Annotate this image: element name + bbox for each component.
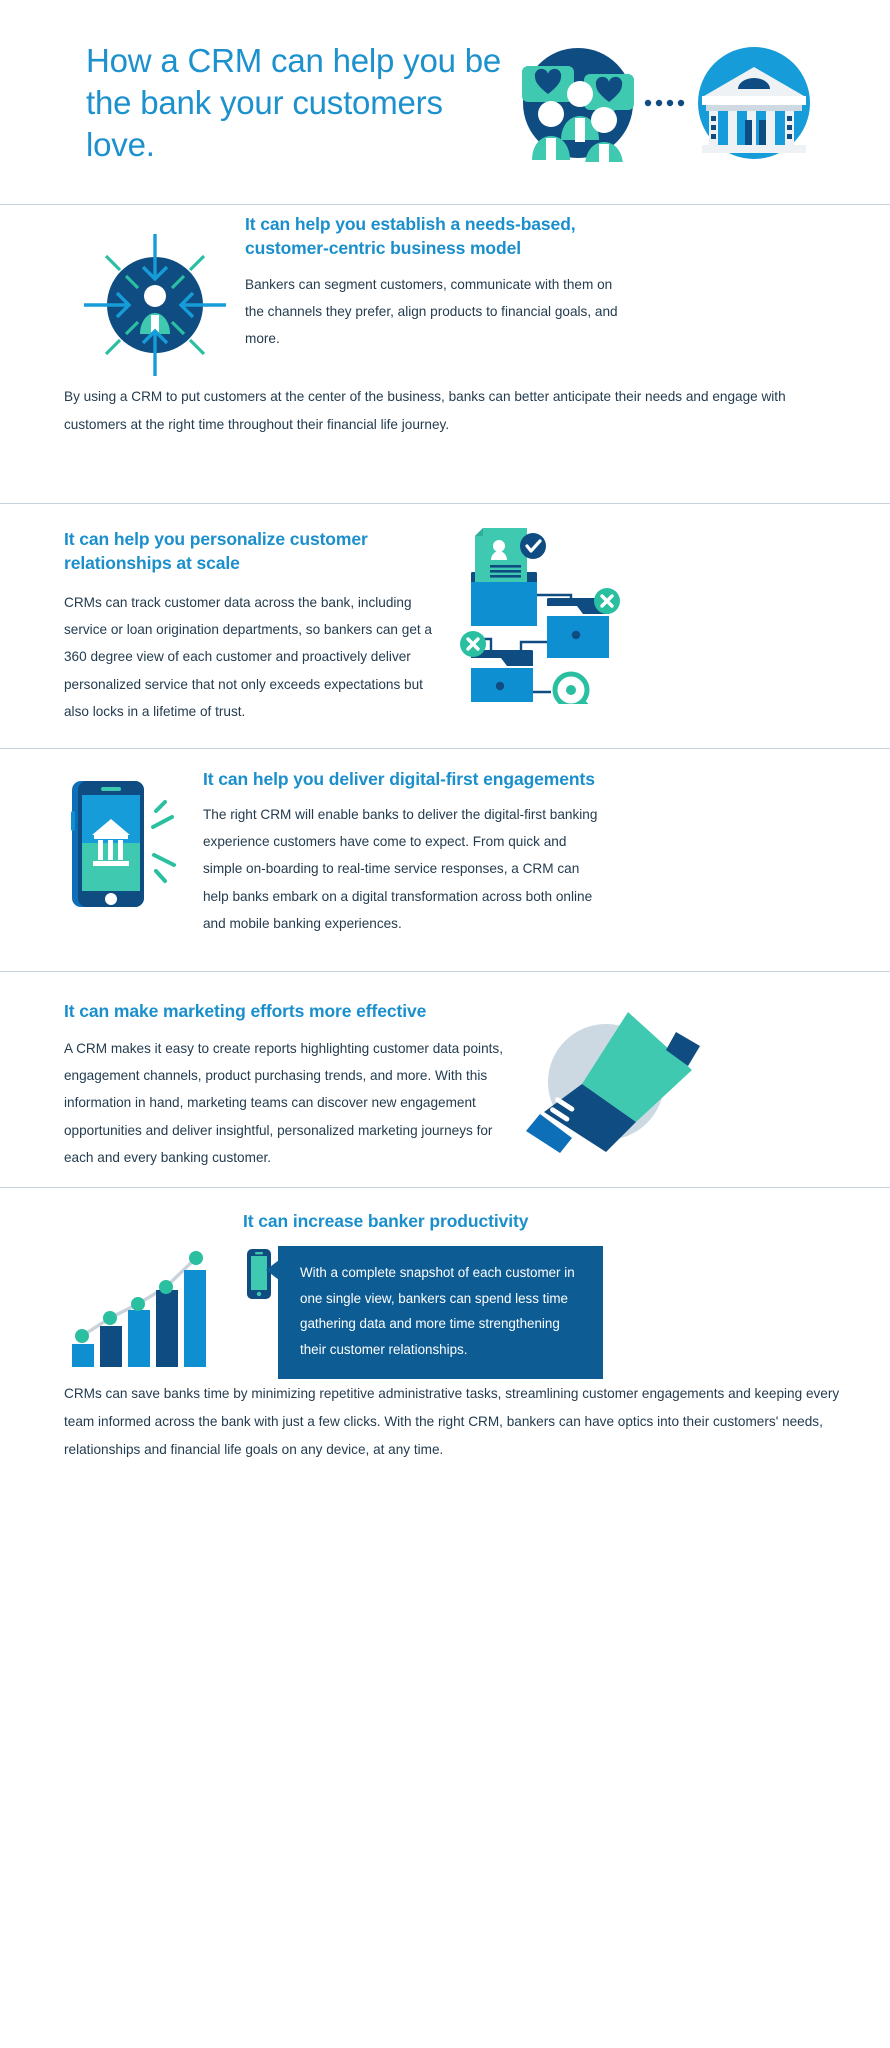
section-heading: It can increase banker productivity <box>243 1210 663 1234</box>
marker-1 <box>75 1329 89 1343</box>
infographic-page: How a CRM can help you be the bank your … <box>0 0 890 1503</box>
section-footnote: CRMs can save banks time by minimizing r… <box>64 1380 854 1464</box>
page-title: How a CRM can help you be the bank your … <box>86 40 506 167</box>
bar-3 <box>128 1310 150 1367</box>
hero-section: How a CRM can help you be the bank your … <box>0 0 890 204</box>
target-inward-arrows-icon <box>80 230 230 380</box>
bar-2 <box>100 1326 122 1367</box>
section-body: CRMs can track customer data across the … <box>64 589 444 725</box>
section-body: A CRM makes it easy to create reports hi… <box>64 1035 504 1171</box>
section-body: Bankers can segment customers, communica… <box>245 271 627 353</box>
section-personalize-relationships: It can help you personalize customer rel… <box>0 504 890 748</box>
section-banker-productivity: It can increase banker productivity With… <box>0 1188 890 1503</box>
section-heading: It can help you establish a needs-based,… <box>245 213 635 260</box>
bar-5 <box>184 1270 206 1367</box>
hero-illustration <box>516 44 836 162</box>
section-heading: It can help you personalize customer rel… <box>64 528 434 575</box>
bar-4 <box>156 1290 178 1367</box>
marker-5 <box>189 1251 203 1265</box>
section-body: The right CRM will enable banks to deliv… <box>203 801 603 937</box>
bar-1 <box>72 1344 94 1367</box>
section-footnote: By using a CRM to put customers at the c… <box>64 383 824 439</box>
mobile-phone-bank-icon <box>68 777 193 912</box>
marker-4 <box>159 1280 173 1294</box>
section-marketing-effective: It can make marketing efforts more effec… <box>0 972 890 1187</box>
bank-building-circle-icon <box>698 47 810 159</box>
customers-hearts-circle-icon <box>522 48 634 162</box>
marker-2 <box>103 1311 117 1325</box>
section-digital-first: It can help you deliver digital-first en… <box>0 749 890 971</box>
section-needs-based-model: It can help you establish a needs-based,… <box>0 205 890 503</box>
section-heading: It can help you deliver digital-first en… <box>203 768 663 792</box>
growth-bar-chart-icon <box>66 1232 216 1367</box>
dotted-connector-icon <box>645 100 684 106</box>
megaphone-icon <box>510 998 710 1153</box>
callout-text: With a complete snapshot of each custome… <box>300 1260 585 1363</box>
marker-3 <box>131 1297 145 1311</box>
folders-records-icon <box>455 514 640 704</box>
productivity-callout: With a complete snapshot of each custome… <box>278 1246 603 1379</box>
section-heading: It can make marketing efforts more effec… <box>64 1000 534 1024</box>
